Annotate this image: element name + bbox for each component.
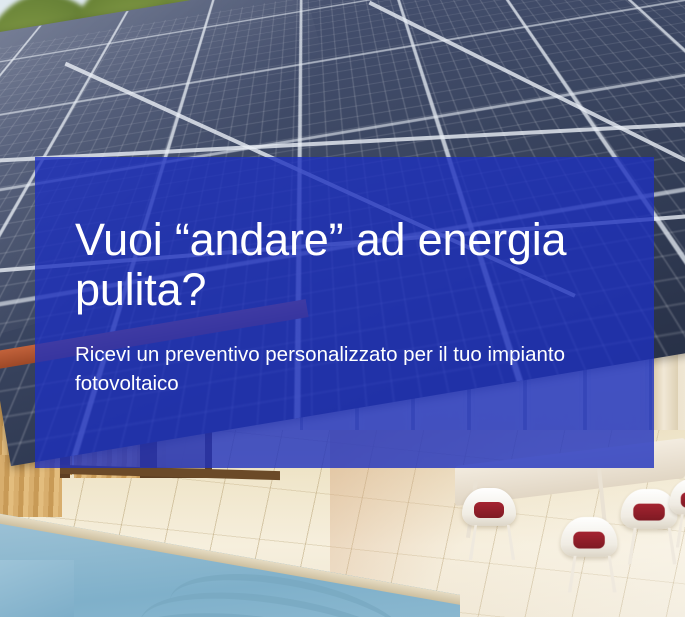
hero-overlay-panel: Vuoi “andare” ad energia pulita? Ricevi … [35, 157, 654, 468]
hero-headline: Vuoi “andare” ad energia pulita? [75, 215, 614, 314]
chair-cushion [573, 532, 605, 549]
hero-banner: Vuoi “andare” ad energia pulita? Ricevi … [0, 0, 685, 617]
hero-subheadline: Ricevi un preventivo personalizzato per … [75, 340, 595, 398]
chair-cushion [633, 504, 665, 521]
patio-chair [462, 488, 516, 530]
patio-chair [561, 517, 618, 561]
chair-cushion [474, 502, 504, 518]
chair-cushion [681, 492, 685, 507]
pool-water-left [0, 560, 74, 617]
patio-chair [669, 479, 685, 519]
